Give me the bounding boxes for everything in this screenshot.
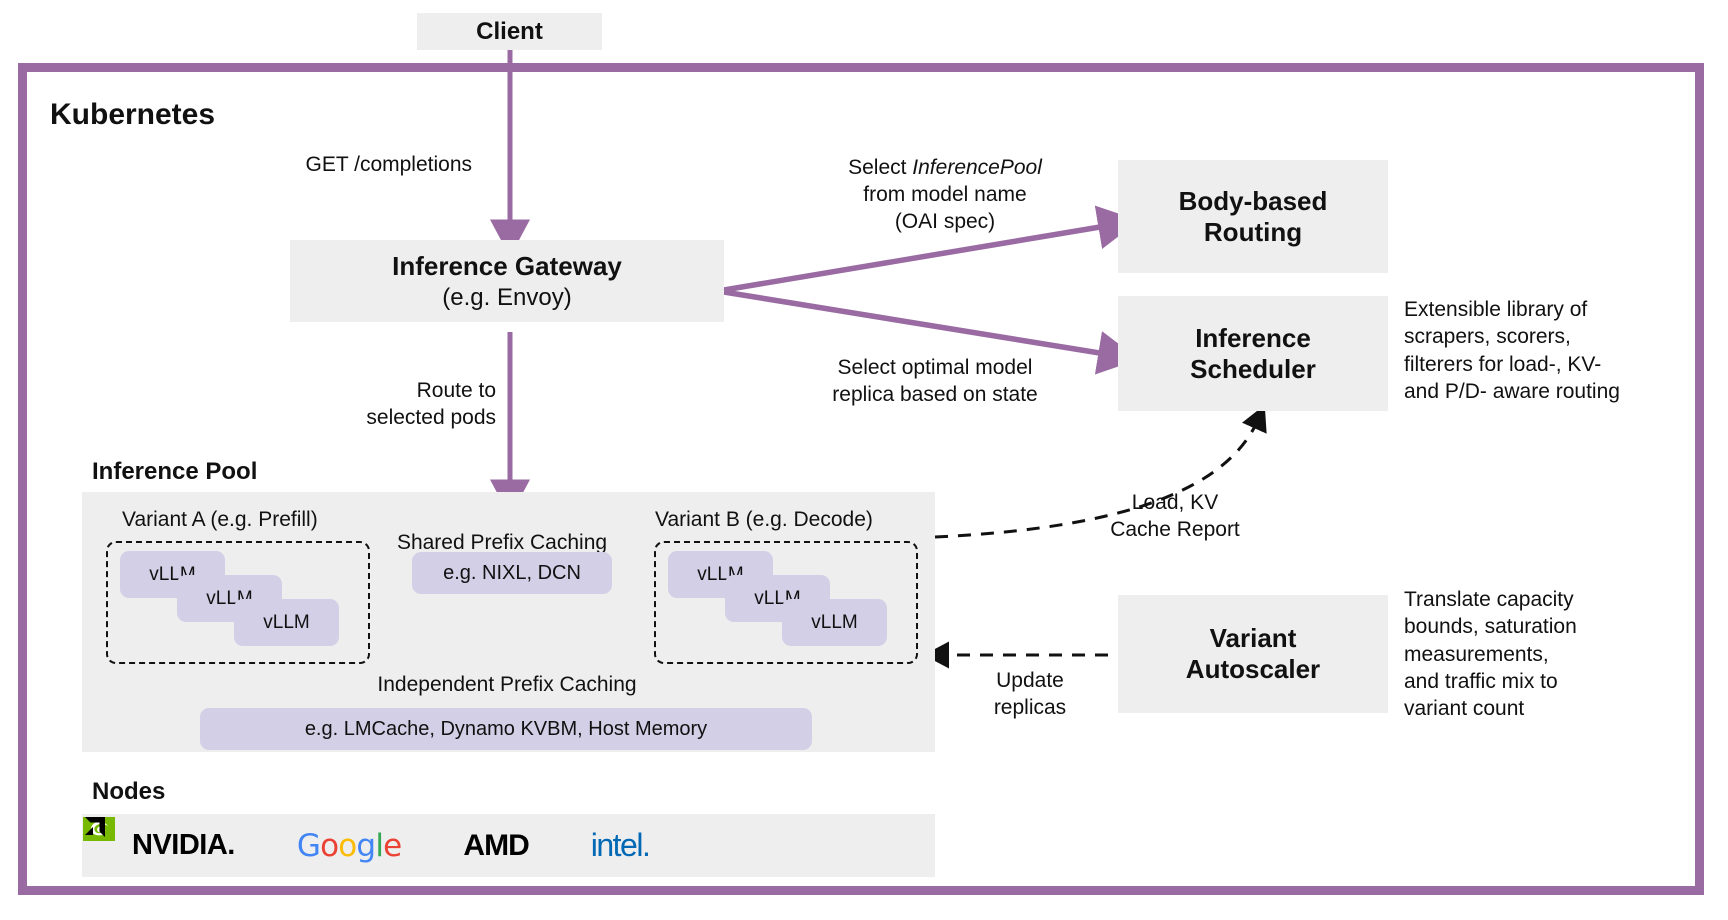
edge-label-select-replica: Select optimal model replica based on st… [750,355,1120,409]
scheduler-note: Extensible library of scrapers, scorers,… [1404,296,1704,405]
vendor-google: Google Google [297,828,402,864]
inference-scheduler-box[interactable]: Inference Scheduler [1118,296,1388,411]
autoscaler-note: Translate capacity bounds, saturation me… [1404,586,1714,722]
inference-scheduler-line1: Inference [1195,323,1311,354]
vendor-amd: AMD [463,829,528,863]
shared-prefix-caching-value: e.g. NIXL, DCN [443,562,581,585]
route-to-pods-line2: selected pods [280,405,496,432]
autoscaler-note-line: bounds, saturation [1404,613,1714,640]
load-kv-line1: Load, KV [1075,490,1275,517]
autoscaler-note-line: measurements, [1404,641,1714,668]
client-box[interactable]: Client [417,13,602,50]
body-based-routing-line1: Body-based [1179,186,1328,217]
load-kv-line2: Cache Report [1075,517,1275,544]
variant-autoscaler-line2: Autoscaler [1186,654,1320,685]
body-based-routing-box[interactable]: Body-based Routing [1118,160,1388,273]
select-pool-line2: from model name [770,182,1120,209]
vendor-intel: intel. [591,827,650,864]
variant-autoscaler-line1: Variant [1210,623,1297,654]
route-to-pods-line1: Route to [280,378,496,405]
scheduler-note-line: and P/D- aware routing [1404,378,1704,405]
independent-prefix-caching-value: e.g. LMCache, Dynamo KVBM, Host Memory [305,718,707,741]
nodes-heading: Nodes [92,778,165,806]
select-replica-line2: replica based on state [750,382,1120,409]
update-replicas-line2: replicas [950,695,1110,722]
shared-prefix-caching-box[interactable]: e.g. NIXL, DCN [412,552,612,594]
scheduler-note-line: filterers for load-, KV- [1404,351,1704,378]
kubernetes-label: Kubernetes [50,98,215,132]
select-pool-prefix: Select [848,156,912,179]
amd-wordmark: AMD [463,829,528,863]
variant-b-pod-3-label: vLLM [811,612,857,634]
select-pool-line1: Select InferencePool [770,155,1120,182]
independent-prefix-caching-box[interactable]: e.g. LMCache, Dynamo KVBM, Host Memory [200,708,812,750]
body-based-routing-line2: Routing [1204,217,1302,248]
edge-label-get-completions: GET /completions [272,152,472,179]
intel-wordmark: intel. [591,827,650,863]
inference-gateway-box[interactable]: Inference Gateway (e.g. Envoy) [290,240,724,322]
select-pool-emphasis: InferencePool [912,156,1042,179]
select-replica-line1: Select optimal model [750,355,1120,382]
inference-pool-heading: Inference Pool [92,458,257,486]
inference-scheduler-line2: Scheduler [1190,354,1316,385]
inference-gateway-title: Inference Gateway [392,251,622,282]
independent-prefix-caching-label: Independent Prefix Caching [262,673,752,697]
edge-label-select-inferencepool: Select InferencePool from model name (OA… [770,155,1120,236]
edge-label-update-replicas: Update replicas [950,668,1110,722]
select-pool-line3: (OAI spec) [770,209,1120,236]
edge-label-route-to-pods: Route to selected pods [280,378,496,432]
nodes-panel: NVIDIA. Google Google AMD intel. [82,814,935,877]
autoscaler-note-line: Translate capacity [1404,586,1714,613]
scheduler-note-line: scrapers, scorers, [1404,323,1704,350]
variant-a-label: Variant A (e.g. Prefill) [122,508,422,532]
variant-b-label: Variant B (e.g. Decode) [655,508,955,532]
autoscaler-note-line: and traffic mix to [1404,668,1714,695]
client-label: Client [476,18,543,46]
edge-label-load-kv-report: Load, KV Cache Report [1075,490,1275,544]
variant-b-pod-3[interactable]: vLLM [782,599,887,646]
autoscaler-note-line: variant count [1404,695,1714,722]
variant-autoscaler-box[interactable]: Variant Autoscaler [1118,595,1388,713]
scheduler-note-line: Extensible library of [1404,296,1704,323]
update-replicas-line1: Update [950,668,1110,695]
nvidia-wordmark: NVIDIA. [132,829,235,862]
inference-gateway-subtitle: (e.g. Envoy) [442,284,571,312]
variant-a-pod-3-label: vLLM [263,612,309,634]
amd-arrow-icon [82,814,108,840]
variant-a-pod-3[interactable]: vLLM [234,599,339,646]
vendor-nvidia: NVIDIA. [132,829,235,862]
